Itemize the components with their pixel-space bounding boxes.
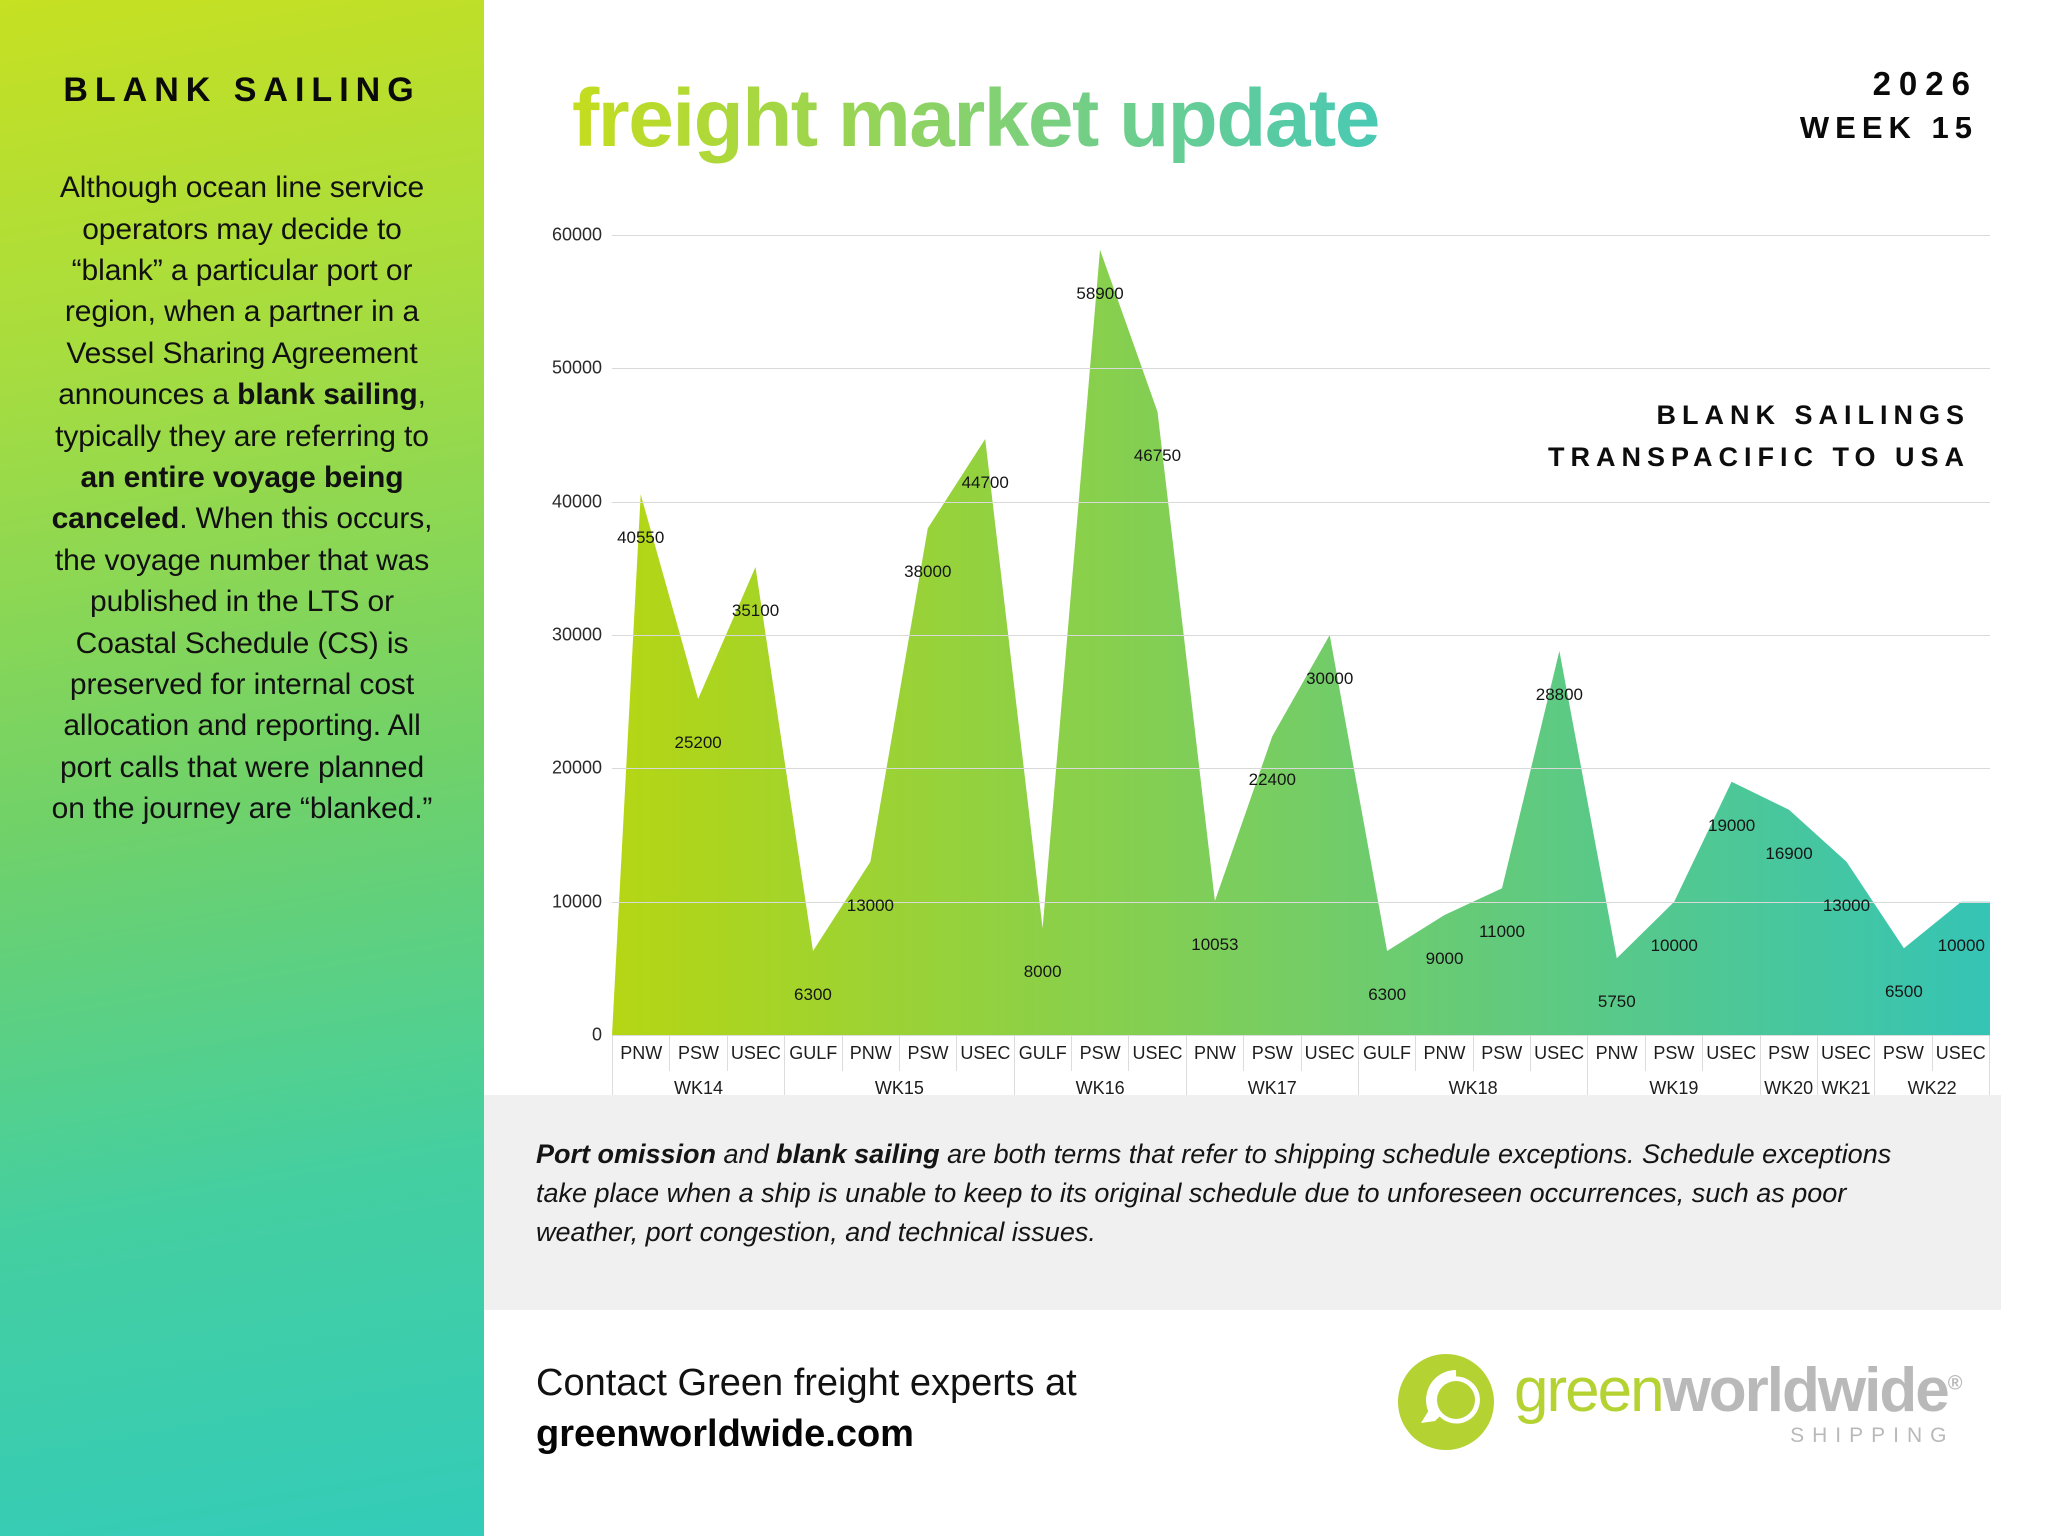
axis-port-label: PSW (1645, 1036, 1702, 1072)
note-panel: Port omission and blank sailing are both… (484, 1095, 2001, 1310)
chart-plot: 0100002000030000400005000060000405502520… (612, 235, 1990, 1035)
logo-word-worldwide: worldwide (1663, 1356, 1948, 1425)
data-point-label: 9000 (1426, 949, 1464, 969)
y-axis-tick-label: 0 (516, 1025, 602, 1046)
axis-port-label: PSW (1473, 1036, 1530, 1072)
chart-gridline (612, 902, 1990, 903)
data-point-label: 58900 (1076, 284, 1123, 304)
issue-week: WEEK 15 (1800, 107, 1978, 149)
issue-year: 2026 (1800, 62, 1978, 107)
registered-trademark-icon: ® (1948, 1372, 1961, 1394)
data-point-label: 35100 (732, 601, 779, 621)
axis-port-row: PNWPSWUSECGULFPNWPSWUSECGULFPSWUSECPNWPS… (613, 1036, 1990, 1072)
greenworldwide-logo[interactable]: greenworldwide® SHIPPING (1394, 1352, 1960, 1456)
axis-port-label: USEC (1932, 1036, 1989, 1072)
chart-gridline (612, 502, 1990, 503)
axis-port-label: PSW (1244, 1036, 1301, 1072)
y-axis-tick-label: 20000 (516, 758, 602, 779)
header: freight market update 2026 WEEK 15 (484, 0, 2048, 215)
logo-wordmark: greenworldwide® (1514, 1360, 1960, 1422)
footer: Contact Green freight experts at greenwo… (484, 1330, 2048, 1536)
axis-port-label: USEC (1703, 1036, 1760, 1072)
issue-block: 2026 WEEK 15 (1800, 62, 1978, 148)
data-point-label: 6300 (794, 985, 832, 1005)
axis-port-label: GULF (785, 1036, 842, 1072)
axis-port-label: USEC (1129, 1036, 1186, 1072)
logo-text: greenworldwide® SHIPPING (1514, 1360, 1960, 1448)
data-point-label: 5750 (1598, 992, 1636, 1012)
axis-port-label: PSW (1875, 1036, 1932, 1072)
data-point-label: 11000 (1479, 922, 1525, 942)
data-point-label: 10053 (1191, 935, 1238, 955)
y-axis-tick-label: 30000 (516, 625, 602, 646)
data-point-label: 40550 (617, 528, 664, 548)
data-point-label: 38000 (904, 562, 951, 582)
logo-word-green: green (1514, 1356, 1663, 1425)
axis-port-label: USEC (1531, 1036, 1588, 1072)
sidebar-text-seg-4: . When this occurs, the voyage number th… (52, 502, 433, 825)
axis-port-label: PNW (1588, 1036, 1645, 1072)
data-point-label: 10000 (1651, 936, 1698, 956)
axis-port-label: USEC (727, 1036, 784, 1072)
contact-block: Contact Green freight experts at greenwo… (536, 1358, 1077, 1461)
axis-port-label: PSW (1760, 1036, 1817, 1072)
data-point-label: 13000 (847, 896, 894, 916)
axis-port-label: PNW (842, 1036, 899, 1072)
sidebar: BLANK SAILING Although ocean line servic… (0, 0, 484, 1536)
data-point-label: 6300 (1368, 985, 1406, 1005)
y-axis-tick-label: 10000 (516, 891, 602, 912)
axis-port-label: USEC (1817, 1036, 1874, 1072)
logo-mark-icon (1394, 1352, 1498, 1456)
chart-area: BLANK SAILINGS TRANSPACIFIC TO USA 01000… (484, 215, 2048, 1095)
y-axis-tick-label: 60000 (516, 225, 602, 246)
contact-website[interactable]: greenworldwide.com (536, 1409, 1077, 1460)
data-point-label: 13000 (1823, 896, 1870, 916)
axis-port-label: PNW (1416, 1036, 1473, 1072)
data-point-label: 46750 (1134, 446, 1181, 466)
axis-port-label: PSW (1072, 1036, 1129, 1072)
sidebar-text-seg-1: blank sailing (237, 378, 417, 411)
data-point-label: 44700 (962, 473, 1009, 493)
data-point-label: 8000 (1024, 962, 1062, 982)
axis-port-label: USEC (1301, 1036, 1358, 1072)
data-point-label: 22400 (1249, 770, 1296, 790)
axis-port-label: PSW (899, 1036, 956, 1072)
page-title: freight market update (572, 72, 1379, 166)
data-point-label: 16900 (1765, 844, 1812, 864)
axis-port-label: GULF (1358, 1036, 1415, 1072)
data-point-label: 6500 (1885, 982, 1923, 1002)
chart-gridline (612, 368, 1990, 369)
chart-gridline (612, 635, 1990, 636)
data-point-label: 30000 (1306, 669, 1353, 689)
note-text-seg-2: blank sailing (776, 1139, 940, 1169)
axis-port-label: PNW (613, 1036, 670, 1072)
axis-port-label: GULF (1014, 1036, 1071, 1072)
axis-port-label: USEC (957, 1036, 1014, 1072)
note-text-seg-0: Port omission (536, 1139, 716, 1169)
data-point-label: 19000 (1708, 816, 1755, 836)
note-text-seg-1: and (716, 1139, 776, 1169)
logo-subtitle: SHIPPING (1514, 1424, 1960, 1448)
sidebar-title: BLANK SAILING (40, 66, 444, 115)
data-point-label: 28800 (1536, 685, 1583, 705)
y-axis-tick-label: 40000 (516, 491, 602, 512)
axis-port-label: PNW (1186, 1036, 1243, 1072)
data-point-label: 25200 (674, 733, 721, 753)
chart-gridline (612, 768, 1990, 769)
chart-gridline (612, 235, 1990, 236)
sidebar-text-seg-0: Although ocean line service operators ma… (58, 171, 424, 411)
data-point-label: 10000 (1938, 936, 1985, 956)
contact-prompt: Contact Green freight experts at (536, 1358, 1077, 1409)
axis-port-label: PSW (670, 1036, 727, 1072)
y-axis-tick-label: 50000 (516, 358, 602, 379)
note-text: Port omission and blank sailing are both… (536, 1135, 1949, 1252)
sidebar-body-text: Although ocean line service operators ma… (40, 167, 444, 829)
